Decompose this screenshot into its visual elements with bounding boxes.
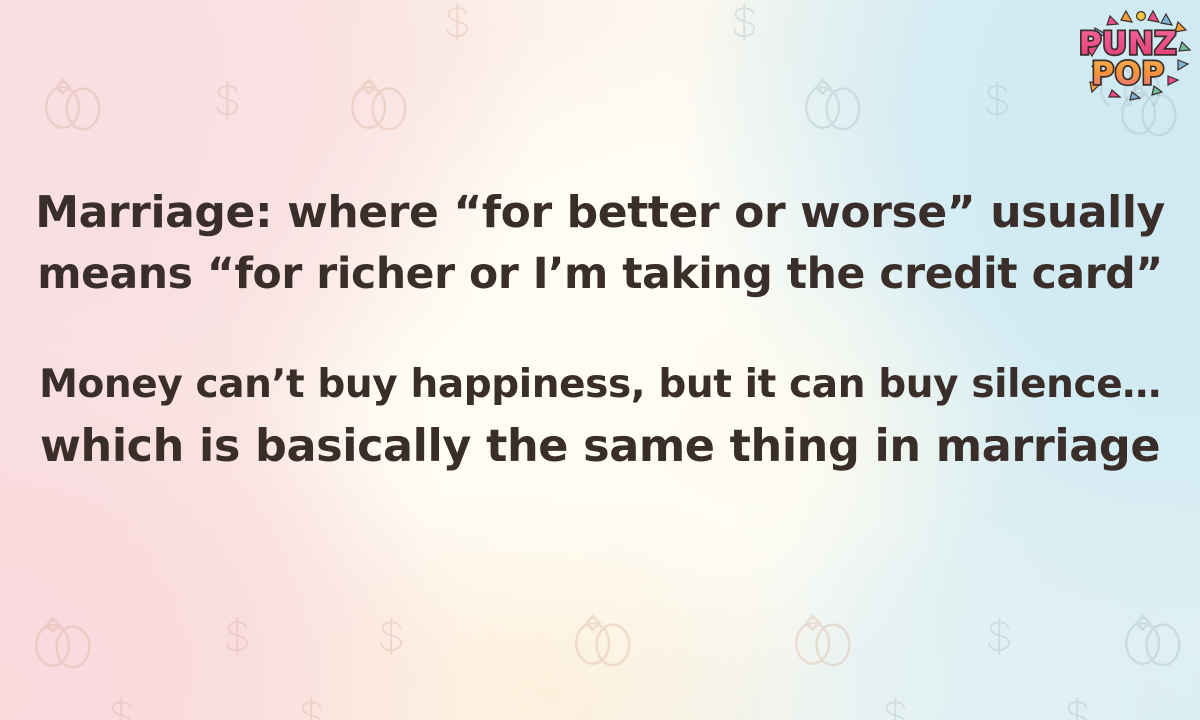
dollar-sign-icon: [293, 690, 330, 720]
wedding-rings-icon: [793, 59, 871, 137]
dollar-sign-icon: [103, 690, 140, 720]
quote-line: which is basically the same thing in mar…: [34, 416, 1166, 478]
quote-line: means “for richer or I’m taking the cred…: [34, 244, 1166, 306]
meme-card: Marriage: where “for better or worse” us…: [0, 0, 1200, 720]
quote-block: Marriage: where “for better or worse” us…: [0, 182, 1200, 478]
dollar-sign-icon: [439, 0, 476, 48]
dollar-sign-icon: [981, 610, 1018, 662]
paragraph-spacer: [34, 306, 1166, 354]
quote-line: Marriage: where “for better or worse” us…: [34, 182, 1166, 244]
wedding-rings-icon: [783, 595, 861, 673]
dollar-sign-icon: [979, 74, 1016, 126]
wedding-rings-icon: [23, 597, 101, 675]
dollar-sign-icon: [1059, 690, 1096, 720]
paragraph-marriage-vows: Marriage: where “for better or worse” us…: [34, 182, 1166, 306]
logo-word-pop: POP: [1091, 56, 1164, 92]
dollar-sign-icon: [877, 690, 914, 720]
dollar-sign-icon: [726, 0, 763, 48]
paragraph-money-silence: Money can’t buy happiness, but it can bu…: [34, 354, 1166, 478]
wedding-rings-icon: [1113, 595, 1191, 673]
punzpop-logo[interactable]: PUNZ POP: [1062, 2, 1194, 106]
quote-line: Money can’t buy happiness, but it can bu…: [34, 354, 1166, 416]
wedding-rings-icon: [339, 59, 417, 137]
dollar-sign-icon: [373, 610, 410, 662]
wedding-rings-icon: [33, 59, 111, 137]
wedding-rings-icon: [563, 595, 641, 673]
dollar-sign-icon: [209, 74, 246, 126]
dollar-sign-icon: [219, 610, 256, 662]
